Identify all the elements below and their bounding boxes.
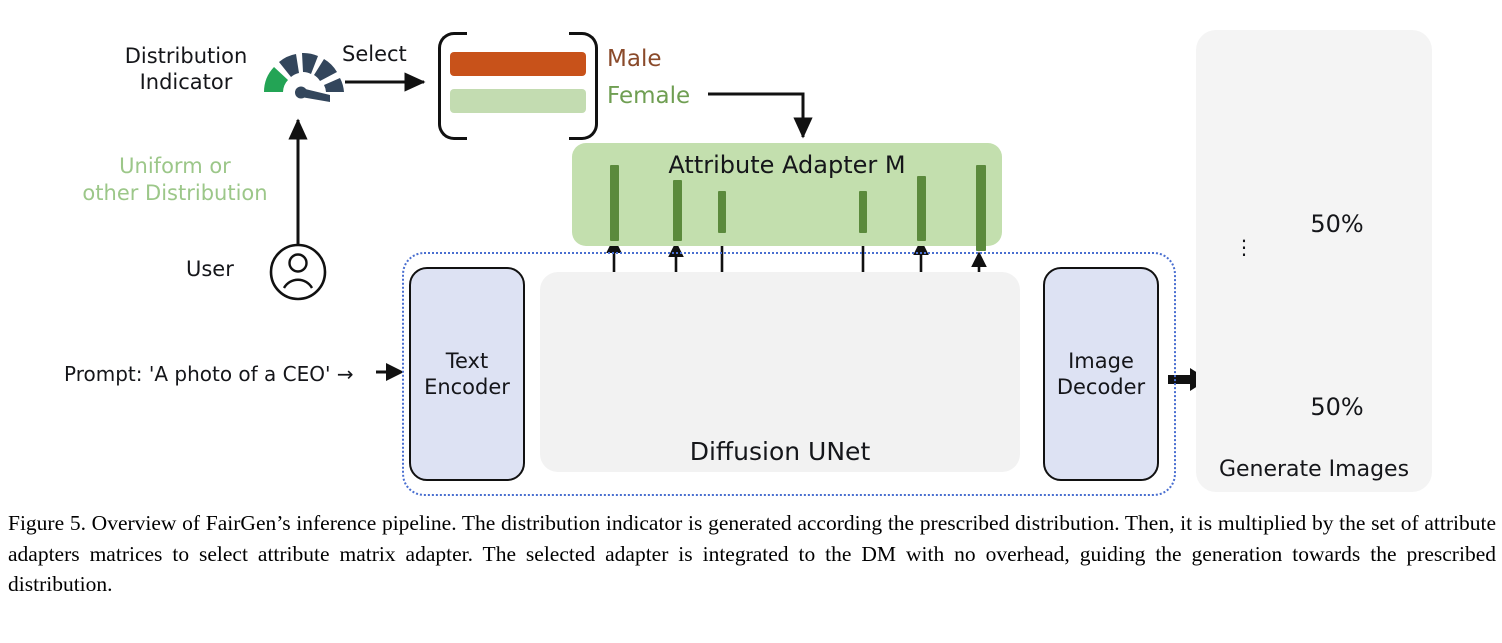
generate-images-label: Generate Images <box>1196 457 1432 482</box>
selection-to-adapter-arrow <box>708 94 803 137</box>
figure-canvas: Distribution Indicator Uniform or other … <box>0 0 1502 500</box>
figure-caption: Figure 5. Overview of FairGen’s inferenc… <box>8 508 1496 600</box>
female-percentage: 50% <box>1287 393 1387 421</box>
female-proportion-bar[interactable] <box>450 89 586 113</box>
uniform-distribution-label: Uniform or other Distribution <box>60 153 290 208</box>
image-decoder-label: Image Decoder <box>1045 348 1157 401</box>
distribution-indicator-label: Distribution Indicator <box>96 44 276 95</box>
female-label: Female <box>607 82 690 110</box>
prompt-label: Prompt: 'A photo of a CEO' → <box>64 362 354 386</box>
adapter-bar <box>859 191 867 233</box>
attribute-adapter-panel: Attribute Adapter M <box>572 143 1002 246</box>
text-encoder-box: Text Encoder <box>409 267 525 481</box>
user-avatar-icon <box>271 245 325 299</box>
adapter-bar <box>718 191 726 233</box>
attribute-adapter-title: Attribute Adapter M <box>572 151 1002 179</box>
bracket-left <box>438 32 467 140</box>
adapter-bar <box>673 180 682 241</box>
adapter-bar <box>976 165 986 251</box>
adapter-bar <box>917 176 926 241</box>
ellipsis-icon: ⋮ <box>1234 242 1248 252</box>
image-decoder-box: Image Decoder <box>1043 267 1159 481</box>
generated-results-panel: ⋮ 50% 50% Generate Images <box>1196 30 1432 492</box>
adapter-bar <box>610 165 619 241</box>
bracket-right <box>569 32 598 140</box>
diffusion-unet-panel: Diffusion UNet <box>540 272 1020 472</box>
select-label: Select <box>342 42 407 68</box>
text-encoder-label: Text Encoder <box>411 348 523 401</box>
male-proportion-bar[interactable] <box>450 52 586 76</box>
diffusion-unet-title: Diffusion UNet <box>540 437 1020 466</box>
distribution-selector[interactable] <box>438 32 598 134</box>
male-percentage: 50% <box>1287 210 1387 238</box>
male-label: Male <box>607 45 661 73</box>
user-label: User <box>186 257 234 283</box>
